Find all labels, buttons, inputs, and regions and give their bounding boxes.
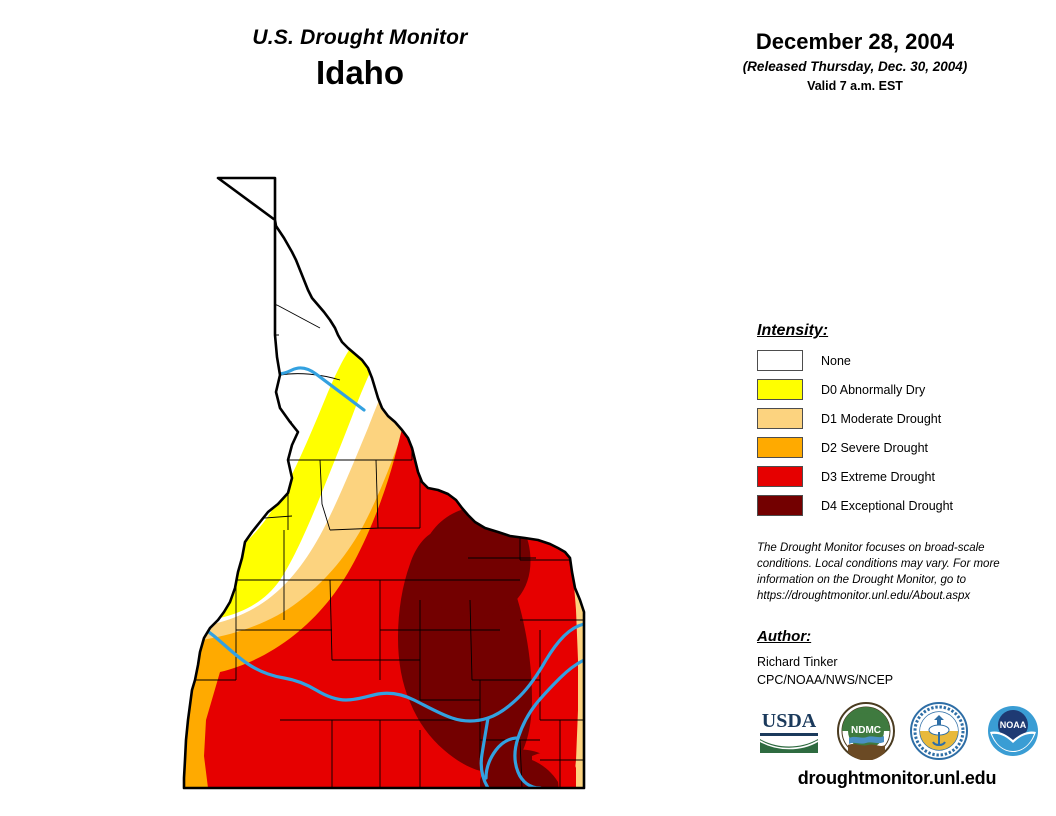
legend-swatch-d1 [757,408,803,429]
author-block: Author: Richard Tinker CPC/NOAA/NWS/NCEP [757,628,1027,689]
legend-swatch-d0 [757,379,803,400]
region-d1-south [184,788,480,800]
legend-item-d2: D2 Severe Drought [757,436,1037,459]
legend-swatch-d2 [757,437,803,458]
author-heading: Author: [757,628,1027,645]
usda-logo: USDA [757,703,821,764]
legend-item-none: None [757,349,1037,372]
noaa-nws-seal-logo [910,702,968,765]
legend-item-d0: D0 Abnormally Dry [757,378,1037,401]
legend-swatch-none [757,350,803,371]
legend-item-d4: D4 Exceptional Drought [757,494,1037,517]
date-block: December 28, 2004 (Released Thursday, De… [690,30,1020,93]
legend-swatch-d4 [757,495,803,516]
disclaimer-text: The Drought Monitor focuses on broad-sca… [757,541,1027,604]
legend-label-d1: D1 Moderate Drought [821,412,941,426]
legend-label-none: None [821,354,851,368]
legend-label-d4: D4 Exceptional Drought [821,499,953,513]
legend-item-d1: D1 Moderate Drought [757,407,1037,430]
date-released: (Released Thursday, Dec. 30, 2004) [690,59,1020,74]
title-block: U.S. Drought Monitor Idaho [150,26,570,91]
svg-text:NOAA: NOAA [1000,720,1027,730]
ndmc-logo: NDMC [837,702,895,765]
author-name: Richard Tinker [757,653,1027,671]
legend-heading: Intensity: [757,322,1037,340]
legend-label-d2: D2 Severe Drought [821,441,928,455]
legend-label-d3: D3 Extreme Drought [821,470,935,484]
date-main: December 28, 2004 [690,30,1020,54]
legend-swatch-d3 [757,466,803,487]
map-drought-regions [180,160,610,800]
idaho-drought-map [180,160,610,800]
intensity-legend: Intensity: None D0 Abnormally Dry D1 Mod… [757,322,1037,523]
svg-text:NDMC: NDMC [851,725,881,736]
site-url: droughtmonitor.unl.edu [737,768,1056,789]
legend-item-d3: D3 Extreme Drought [757,465,1037,488]
legend-label-d0: D0 Abnormally Dry [821,383,925,397]
state-title: Idaho [150,56,570,91]
partner-logos: USDA NDMC [757,702,1042,764]
author-affiliation: CPC/NOAA/NWS/NCEP [757,671,1027,689]
noaa-logo: NOAA [984,702,1042,765]
svg-text:USDA: USDA [762,710,817,732]
date-valid: Valid 7 a.m. EST [690,79,1020,93]
page-title: U.S. Drought Monitor [150,26,570,50]
